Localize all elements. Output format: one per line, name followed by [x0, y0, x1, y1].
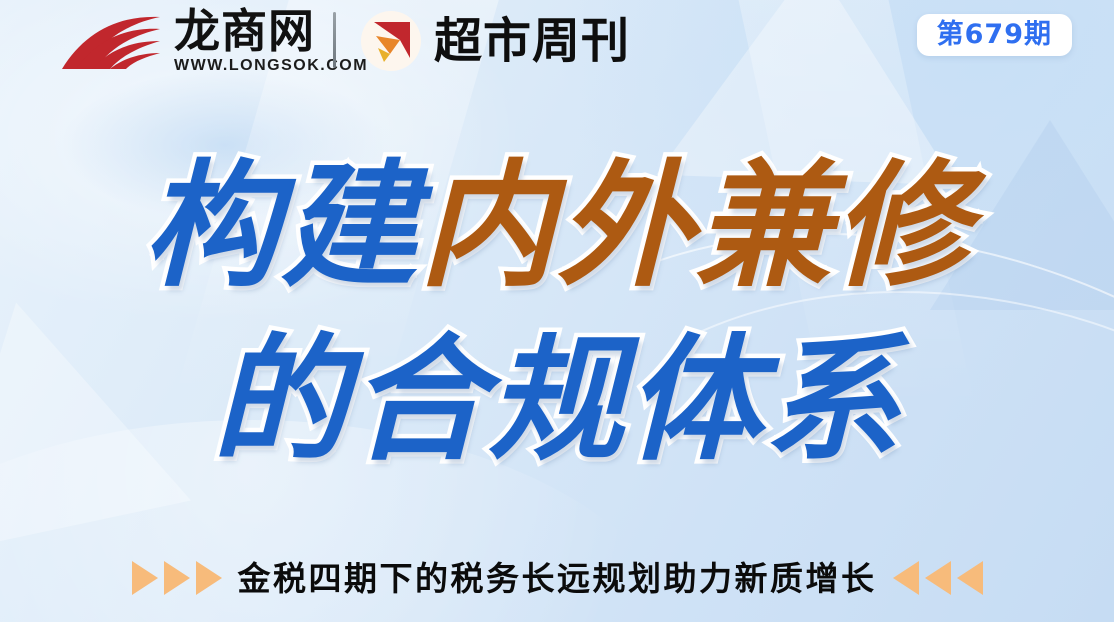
magazine-arrow-icon: [360, 10, 422, 72]
title-segment-blue-1: 构建: [143, 148, 419, 306]
brand-divider: [333, 12, 336, 68]
brand-longsok-name: 龙商网: [174, 8, 368, 54]
title-line-2: 的合规体系: [0, 314, 1114, 488]
brand-longsok-text: 龙商网 WWW.LONGSOK.COM: [174, 8, 368, 75]
poster-title: 构建内外兼修 的合规体系: [0, 140, 1114, 488]
banner-header: 龙商网 WWW.LONGSOK.COM 超市周刊 第679期: [0, 0, 1114, 92]
title-line-1: 构建内外兼修: [0, 140, 1114, 314]
brand-longsok[interactable]: 龙商网 WWW.LONGSOK.COM: [60, 8, 368, 75]
subtitle-left-markers: [132, 561, 222, 595]
swoosh-logo-icon: [60, 11, 168, 73]
triangle-right-icon: [196, 561, 222, 595]
poster-subtitle-text: 金税四期下的税务长远规划助力新质增长: [238, 562, 877, 595]
title-segment-brown-1: 内外兼修: [419, 148, 971, 306]
poster-banner: 龙商网 WWW.LONGSOK.COM 超市周刊 第679期 构建内外兼修 的合…: [0, 0, 1114, 622]
title-segment-blue-2: 的合规体系: [212, 322, 902, 480]
triangle-left-icon: [893, 561, 919, 595]
triangle-left-icon: [957, 561, 983, 595]
triangle-right-icon: [164, 561, 190, 595]
poster-subtitle-row: 金税四期下的税务长远规划助力新质增长: [0, 548, 1114, 608]
brand-longsok-url: WWW.LONGSOK.COM: [174, 57, 368, 75]
brand-supermarket-weekly[interactable]: 超市周刊: [360, 10, 630, 72]
subtitle-right-markers: [893, 561, 983, 595]
triangle-left-icon: [925, 561, 951, 595]
brand-supermarket-weekly-name: 超市周刊: [434, 17, 630, 65]
issue-badge-label: 第679期: [937, 21, 1052, 48]
issue-badge[interactable]: 第679期: [917, 14, 1072, 56]
triangle-right-icon: [132, 561, 158, 595]
